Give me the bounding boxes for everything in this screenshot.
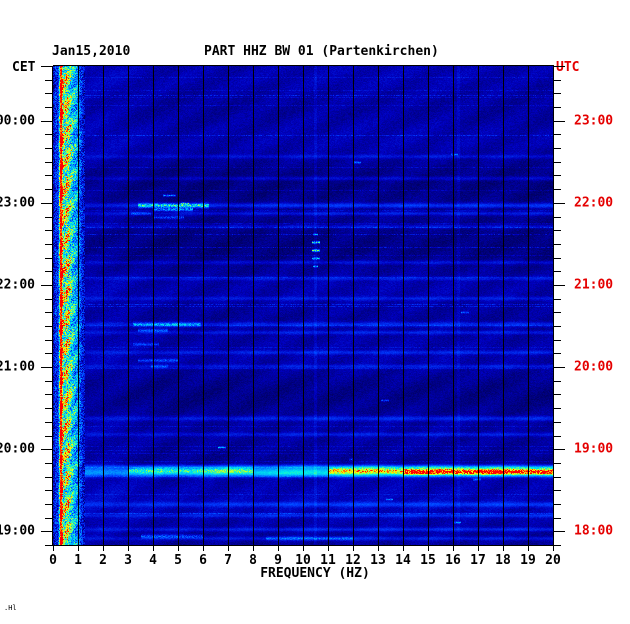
frequency-axis: 01234567891011121314151617181920 — [53, 545, 554, 561]
right-time-tick-label: 20:00 — [574, 360, 613, 375]
right-time-tick-label: 18:00 — [574, 524, 613, 539]
axis-frame-line — [553, 66, 554, 545]
spectrogram-plot[interactable] — [53, 66, 553, 545]
axis-frame-line — [52, 66, 53, 545]
date-label: Jan15,2010 — [52, 44, 130, 59]
left-time-tick-label: 21:00 — [0, 360, 35, 375]
left-time-axis: 00:0023:0022:0021:0020:0019:00 — [0, 66, 53, 545]
right-time-tick-label: 19:00 — [574, 442, 613, 457]
left-time-tick-label: 20:00 — [0, 442, 35, 457]
right-time-tick-label: 23:00 — [574, 113, 613, 128]
stray-artifact-mark: .Hl — [4, 604, 17, 612]
axis-frame-line — [53, 545, 554, 546]
axis-frame-line — [553, 66, 565, 67]
left-time-tick-label: 00:00 — [0, 113, 35, 128]
frequency-gridlines — [53, 66, 553, 545]
station-title: PART HHZ BW 01 (Partenkirchen) — [204, 44, 439, 59]
right-time-tick-label: 22:00 — [574, 195, 613, 210]
axis-frame-line — [41, 66, 53, 67]
right-time-axis: 23:0022:0021:0020:0019:0018:00 — [553, 66, 593, 545]
axis-frame-line — [53, 65, 554, 66]
x-axis-title: FREQUENCY (HZ) — [0, 566, 630, 581]
left-time-tick-label: 19:00 — [0, 524, 35, 539]
spectrogram-page: Jan15,2010 PART HHZ BW 01 (Partenkirchen… — [0, 0, 630, 624]
right-time-tick-label: 21:00 — [574, 277, 613, 292]
left-time-tick-label: 22:00 — [0, 277, 35, 292]
left-time-tick-label: 23:00 — [0, 195, 35, 210]
